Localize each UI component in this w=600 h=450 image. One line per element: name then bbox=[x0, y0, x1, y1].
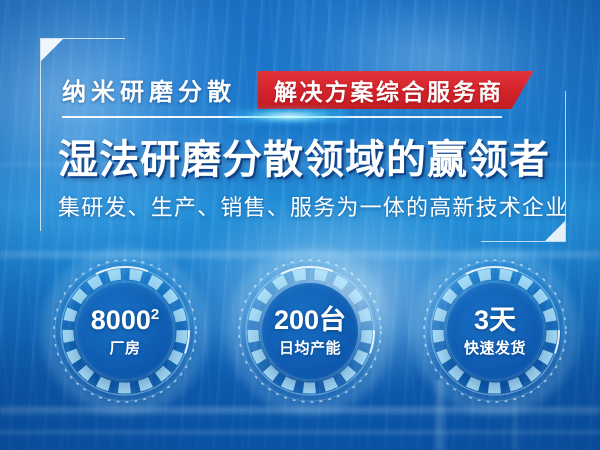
page-title: 湿法研磨分散领域的赢领者 bbox=[58, 127, 550, 185]
badge-number: 3天 bbox=[474, 305, 516, 335]
stat-badge: 3天 快速发货 bbox=[422, 258, 568, 404]
stat-badge-row: 80002 厂房 200台 日均产能 bbox=[0, 258, 600, 408]
badge-number: 8000 bbox=[91, 305, 151, 335]
badge-core: 200台 日均产能 bbox=[262, 283, 358, 379]
badge-core: 80002 厂房 bbox=[77, 283, 173, 379]
stat-badge: 200台 日均产能 bbox=[237, 258, 383, 404]
badge-value: 80002 bbox=[91, 307, 159, 334]
eyebrow-text: 纳米研磨分散 bbox=[62, 72, 236, 107]
badge-label: 厂房 bbox=[109, 341, 140, 356]
badge-label: 快速发货 bbox=[464, 341, 526, 356]
badge-superscript: 2 bbox=[151, 306, 159, 323]
page-subtitle: 集研发、生产、销售、服务为一体的高新技术企业 bbox=[58, 190, 568, 222]
divider-glow-icon bbox=[229, 108, 349, 124]
eyebrow-row: 纳米研磨分散 bbox=[62, 68, 236, 110]
promo-banner: 纳米研磨分散 解决方案综合服务商 湿法研磨分散领域的赢领者 集研发、生产、销售、… bbox=[0, 0, 600, 450]
badge-core: 3天 快速发货 bbox=[447, 283, 543, 379]
badge-number: 200台 bbox=[274, 305, 346, 335]
stat-badge: 80002 厂房 bbox=[52, 258, 198, 404]
badge-label: 日均产能 bbox=[279, 341, 341, 356]
divider-underline bbox=[62, 112, 502, 122]
ribbon-label: 解决方案综合服务商 bbox=[274, 73, 504, 107]
badge-value: 3天 bbox=[474, 307, 516, 334]
ribbon-badge: 解决方案综合服务商 bbox=[258, 71, 534, 109]
badge-value: 200台 bbox=[274, 307, 346, 334]
